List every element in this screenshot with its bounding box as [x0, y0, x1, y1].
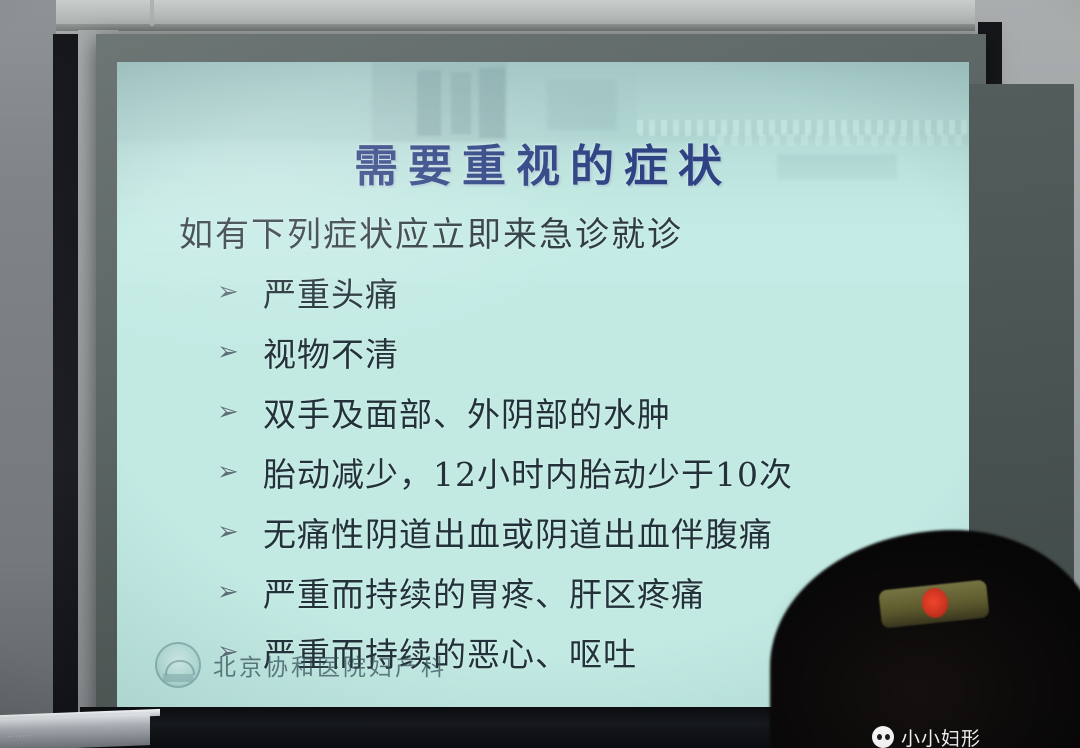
- hospital-crest-icon: [155, 642, 201, 688]
- ceiling-seam: [0, 24, 1080, 31]
- list-item-label: 无痛性阴道出血或阴道出血伴腹痛: [263, 508, 773, 556]
- list-item: ➢ 胎动减少，12小时内胎动少于10次: [217, 442, 957, 502]
- list-item-label: 胎动减少，12小时内胎动少于10次: [263, 448, 793, 496]
- arrow-bullet-icon: ➢: [217, 279, 263, 305]
- slide-title: 需要重视的症状: [117, 130, 969, 194]
- slide-lead-text: 如有下列症状应立即来急诊就诊: [179, 207, 683, 256]
- list-item-label: 双手及面部、外阴部的水肿: [263, 388, 671, 436]
- projected-slide-photo: 需要重视的症状 如有下列症状应立即来急诊就诊 ➢ 严重头痛 ➢ 视物不清 ➢ 双…: [0, 0, 1080, 748]
- arrow-bullet-icon: ➢: [217, 519, 263, 545]
- watermark: 小小妇形: [872, 726, 981, 748]
- arrow-bullet-icon: ➢: [217, 399, 263, 425]
- wall-left: [0, 0, 56, 748]
- panda-face-icon: [872, 726, 894, 748]
- list-item-label: 严重头痛: [263, 268, 399, 316]
- list-item-label: 视物不清: [263, 328, 399, 376]
- list-item-label: 严重而持续的胃疼、肝区疼痛: [263, 568, 705, 616]
- list-item: ➢ 视物不清: [217, 322, 957, 382]
- watermark-label: 小小妇形: [901, 726, 981, 748]
- wall-dark-band-left: [53, 34, 79, 748]
- arrow-bullet-icon: ➢: [217, 459, 263, 485]
- arrow-bullet-icon: ➢: [217, 579, 263, 605]
- list-item: ➢ 双手及面部、外阴部的水肿: [217, 382, 957, 442]
- slide-footer: 北京协和医院妇产科: [155, 642, 447, 688]
- footer-organization-label: 北京协和医院妇产科: [213, 648, 447, 682]
- arrow-bullet-icon: ➢: [217, 339, 263, 365]
- list-item: ➢ 严重头痛: [217, 262, 957, 322]
- ceiling-tile-seam: [150, 0, 154, 26]
